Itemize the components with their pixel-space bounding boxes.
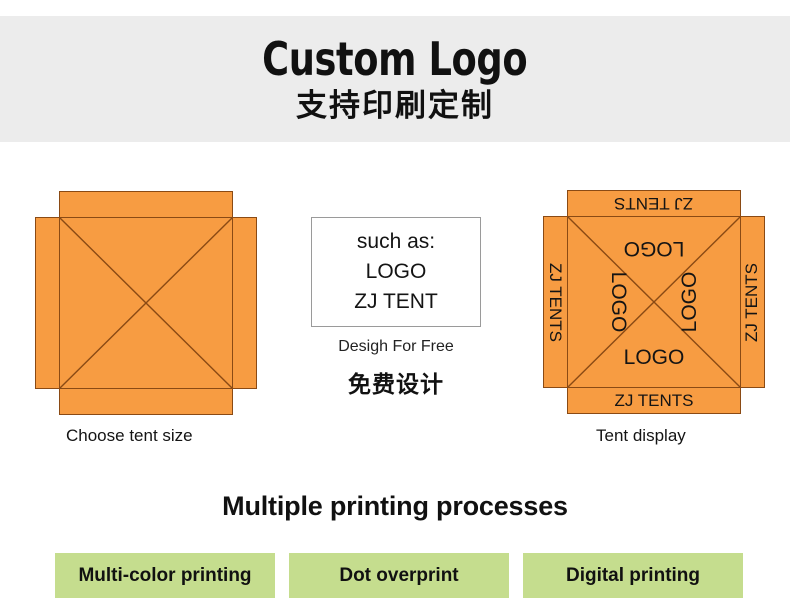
- display-flap-top: ZJ TENTS: [567, 190, 741, 217]
- printing-processes-heading: Multiple printing processes: [0, 491, 790, 522]
- process-chip-label: Digital printing: [566, 565, 700, 587]
- display-flap-left: ZJ TENTS: [543, 216, 569, 388]
- process-chip-dot-overprint: Dot overprint: [289, 553, 509, 598]
- process-chip-label: Multi-color printing: [78, 565, 251, 587]
- process-chip-multi-color: Multi-color printing: [55, 553, 275, 598]
- display-flap-bottom-label: ZJ TENTS: [614, 392, 693, 409]
- logo-example-box: such as: LOGO ZJ TENT: [311, 217, 481, 327]
- page-subtitle: 支持印刷定制: [296, 87, 494, 125]
- example-line-brand: ZJ TENT: [354, 287, 438, 317]
- display-flap-right-label: ZJ TENTS: [744, 262, 761, 341]
- tent-flap-left: [35, 217, 61, 389]
- display-flap-bottom: ZJ TENTS: [567, 387, 741, 414]
- tent-flap-right: [231, 217, 257, 389]
- design-free-chinese-label: 免费设计: [311, 365, 481, 399]
- design-free-english-label: Desigh For Free: [311, 338, 481, 356]
- page-title: Custom Logo: [262, 33, 527, 85]
- header-banner: Custom Logo 支持印刷定制: [0, 16, 790, 142]
- display-flap-top-label: ZJ TENTS: [614, 195, 693, 212]
- display-panel-bottom-label: LOGO: [624, 347, 685, 368]
- display-flap-left-label: ZJ TENTS: [548, 262, 565, 341]
- display-panel-left-label: LOGO: [608, 272, 629, 333]
- process-chip-label: Dot overprint: [339, 565, 458, 587]
- display-canopy-panel: LOGO LOGO LOGO LOGO: [567, 216, 741, 388]
- tent-flap-top: [59, 191, 233, 218]
- display-panel-right-label: LOGO: [679, 272, 700, 333]
- example-line-such-as: such as:: [357, 227, 435, 257]
- display-flap-right: ZJ TENTS: [739, 216, 765, 388]
- tent-size-caption: Choose tent size: [66, 426, 193, 446]
- tent-flap-bottom: [59, 388, 233, 415]
- process-chip-digital-printing: Digital printing: [523, 553, 743, 598]
- tent-display-diagram: ZJ TENTS ZJ TENTS ZJ TENTS ZJ TENTS LOGO…: [543, 190, 765, 414]
- example-line-logo: LOGO: [366, 257, 427, 287]
- tent-diagonals-icon: [60, 218, 232, 388]
- display-panel-top-label: LOGO: [624, 238, 685, 259]
- tent-display-caption: Tent display: [596, 426, 686, 446]
- tent-canopy-panel: [59, 217, 233, 389]
- tent-size-diagram: [35, 191, 257, 415]
